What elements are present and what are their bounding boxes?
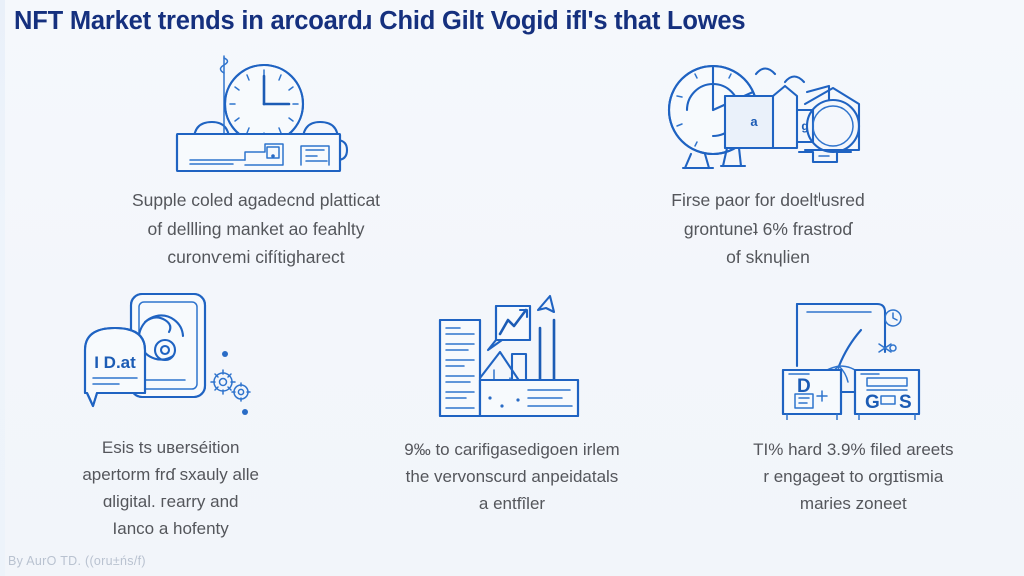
card-bottom-center-caption: 9‰ to carifigasedigoen irlem the vervons… xyxy=(404,436,619,517)
card-top-right-caption: Firse paor for doeltˡusred grontuneʇ 6% … xyxy=(671,186,864,272)
bubble-label: I D.at xyxy=(94,353,136,372)
page-title: NFT Market trends in arcoardɹ Chid Gilt … xyxy=(14,4,1004,38)
caption-line: r engageət to orgɪtіsmia xyxy=(753,463,953,490)
caption-line: of sknɥlien xyxy=(671,243,864,272)
caption-line: curonѵemi cifítigharect xyxy=(132,243,380,272)
card-top-right[interactable]: a g xyxy=(512,48,1024,280)
caption-line: marіes zoneet xyxy=(753,490,953,517)
bottom-card-row: I D.at xyxy=(0,288,1024,528)
clock-clouds-panel-icon xyxy=(161,48,351,172)
infographic-canvas: NFT Market trends in arcoardɹ Chid Gilt … xyxy=(0,0,1024,576)
caption-line: a entfîler xyxy=(404,490,619,517)
dual-panel-network-icon: D G S xyxy=(775,288,931,420)
caption-line: Supple coled agadecnd platticat xyxy=(132,186,380,215)
card-bottom-right-caption: TІ% hard 3.9% filed areets r engageət to… xyxy=(753,436,953,517)
caption-line: the vervonscurd anpeidatals xyxy=(404,463,619,490)
card-bottom-left-caption: Esis ts uвerséition apertorm frɗ sхauly … xyxy=(82,434,259,542)
caption-line: Firse paor for doeltˡusred xyxy=(671,186,864,215)
caption-line: 9‰ to carifigasedigoen irlem xyxy=(404,436,619,463)
panel-label-g: G xyxy=(865,392,880,413)
caption-line: TІ% hard 3.9% filed areets xyxy=(753,436,953,463)
caption-line: grontuneʇ 6% frastroɗ xyxy=(671,215,864,244)
card-top-left-caption: Supple coled agadecnd platticat of delll… xyxy=(132,186,380,272)
panel-label-s: S xyxy=(899,392,912,413)
caption-line: of dellling manket ao feahlty xyxy=(132,215,380,244)
machinery-gauge-icon: a g xyxy=(661,48,876,172)
tablet-speech-bubble-gears-icon: I D.at xyxy=(75,288,267,418)
caption-line: apertorm frɗ sхauly alle xyxy=(82,461,259,488)
card-top-left[interactable]: Supple coled agadecnd platticat of delll… xyxy=(0,48,512,280)
document-chart-growth-icon xyxy=(434,288,590,420)
caption-line: Esis ts uвerséition xyxy=(82,434,259,461)
footer-attribution: By AurO TD. ((oru±ńs/f) xyxy=(8,554,146,568)
caption-line: ɑligital. гearry and xyxy=(82,488,259,515)
svg-text:a: a xyxy=(750,114,758,129)
card-bottom-center[interactable]: 9‰ to carifigasedigoen irlem the vervons… xyxy=(341,288,682,528)
card-bottom-right[interactable]: D G S xyxy=(683,288,1024,528)
card-bottom-left[interactable]: I D.at xyxy=(0,288,341,528)
caption-line: Іanco a hofenty xyxy=(82,515,259,542)
top-card-row: Supple coled agadecnd platticat of delll… xyxy=(0,48,1024,280)
